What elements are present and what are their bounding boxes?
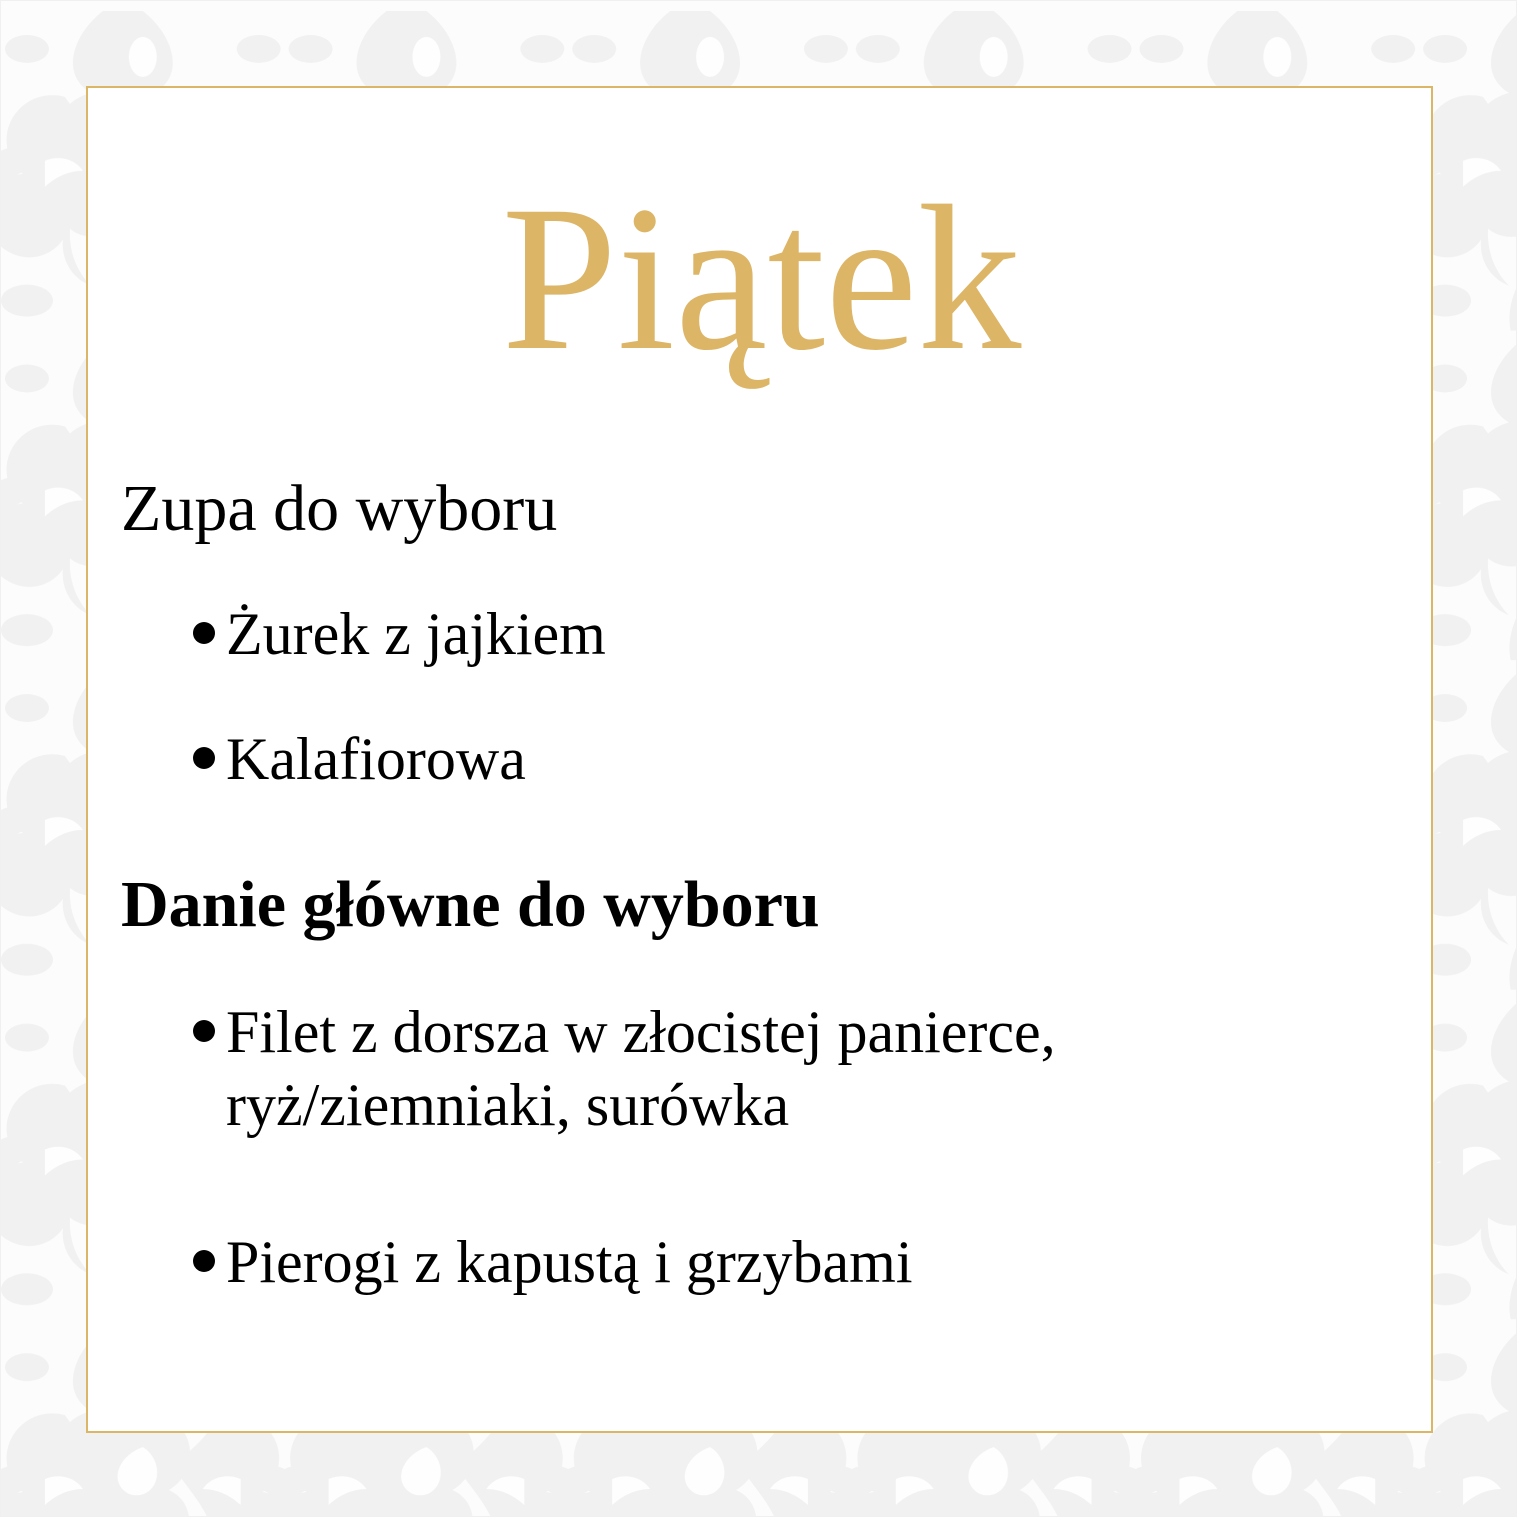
section-soup: Zupa do wyboru Żurek z jajkiem Kalafioro… (121, 473, 1411, 797)
menu-content: Piątek Zupa do wyboru Żurek z jajkiem Ka… (88, 88, 1435, 1435)
gold-frame-panel: Piątek Zupa do wyboru Żurek z jajkiem Ka… (86, 86, 1433, 1433)
section-heading-soup: Zupa do wyboru (121, 473, 1411, 544)
list-item-label: Filet z dorsza w złocistej panierce, ryż… (226, 999, 1056, 1138)
section-main-course: Danie główne do wyboru Filet z dorsza w … (121, 869, 1411, 1300)
bullet-icon (193, 747, 215, 769)
list-item: Pierogi z kapustą i grzybami (121, 1226, 1411, 1299)
list-item-label: Kalafiorowa (226, 726, 526, 792)
list-item-label: Żurek z jajkiem (226, 601, 606, 667)
list-item-label: Pierogi z kapustą i grzybami (226, 1229, 912, 1295)
list-item: Filet z dorsza w złocistej panierce, ryż… (121, 996, 1411, 1142)
bullet-icon (193, 1250, 215, 1272)
main-course-item-list: Filet z dorsza w złocistej panierce, ryż… (121, 996, 1411, 1300)
page-title: Piątek (88, 174, 1435, 382)
list-item: Żurek z jajkiem (121, 598, 1411, 671)
list-item: Kalafiorowa (121, 723, 1411, 796)
menu-card: Piątek Zupa do wyboru Żurek z jajkiem Ka… (0, 0, 1517, 1517)
menu-sections: Zupa do wyboru Żurek z jajkiem Kalafioro… (121, 473, 1411, 1299)
section-heading-main-course: Danie główne do wyboru (121, 869, 1411, 940)
soup-item-list: Żurek z jajkiem Kalafiorowa (121, 598, 1411, 796)
bullet-icon (193, 622, 215, 644)
bullet-icon (193, 1020, 215, 1042)
